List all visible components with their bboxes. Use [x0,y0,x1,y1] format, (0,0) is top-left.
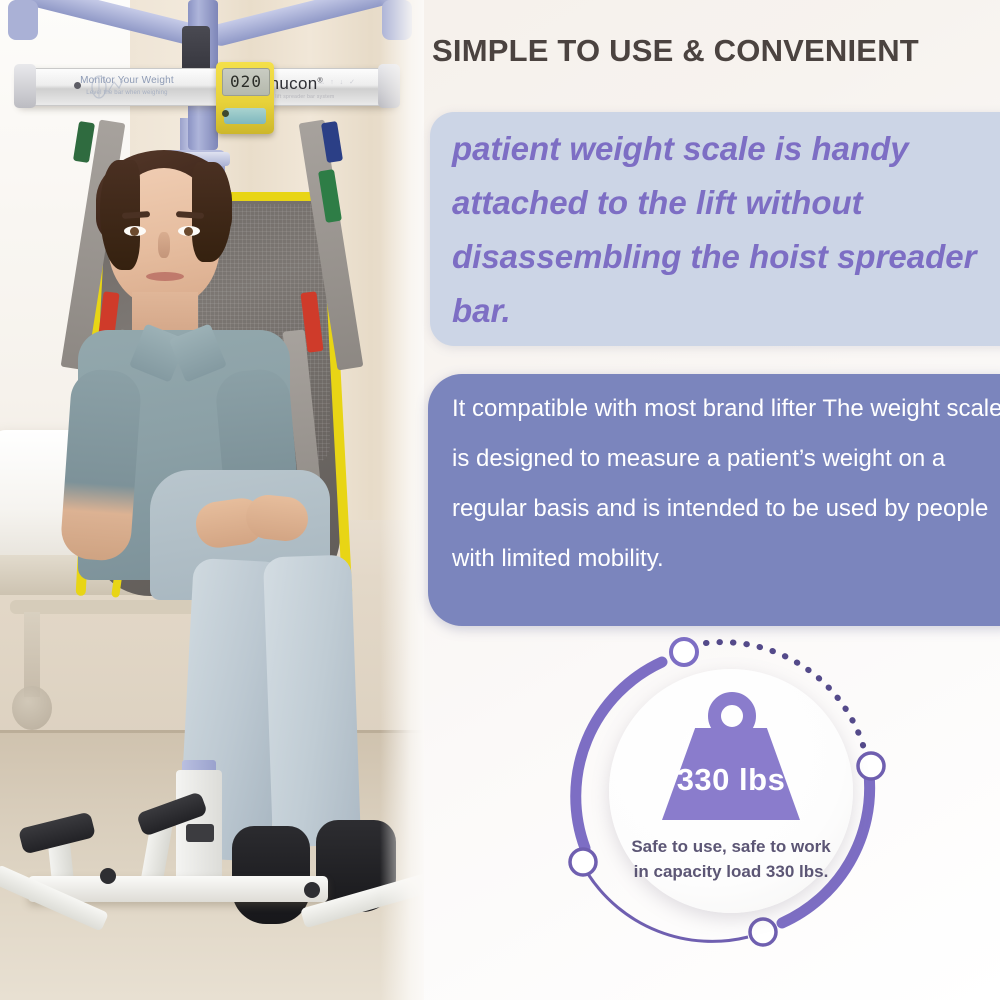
scale-lcd-display: 020 [222,68,270,96]
spreader-bar-cap-left [14,64,36,108]
highlight-panel-text: patient weight scale is handy attached t… [452,122,1000,338]
spreader-bar-label-sub: Level the bar when weighing [62,88,192,99]
capacity-caption: Safe to use, safe to work in capacity lo… [624,834,838,884]
description-panel-text: It compatible with most brand lifter The… [452,384,1000,584]
patient-sock-left [232,826,310,924]
product-photo: Monitor Your Weight Level the bar when w… [0,0,424,1000]
lift-base-knob [304,882,320,898]
lift-control-screen [186,824,214,842]
spreader-bar-label-main: Monitor Your Weight [80,75,174,86]
photo-edge-fade [380,0,424,1000]
patient-leg-right [263,555,361,848]
scale-led-icon [222,110,229,117]
weight-icon: 330 lbs [662,692,800,820]
lift-yoke-end-left [8,0,38,40]
capacity-badge: 330 lbs Safe to use, safe to work in cap… [566,626,896,956]
scale-button-panel[interactable] [224,108,266,124]
page-title: SIMPLE TO USE & CONVENIENT [432,33,992,69]
patient-arm-left [59,368,142,562]
scale-reading: 020 [223,69,269,95]
spreader-bar-label: Monitor Your Weight Level the bar when w… [62,72,192,103]
patient-eye-right [178,226,200,236]
bed-leg [24,612,40,697]
patient-nose [158,232,170,258]
patient-eye-left [124,226,146,236]
lift-base-knob [100,868,116,884]
spreader-bar-icon-row: ⚠ ↑ ↓ ✓ [318,78,357,86]
patient-mouth [146,272,184,281]
bed-caster [12,686,52,730]
capacity-value: 330 lbs [662,762,800,798]
product-marketing-image: Monitor Your Weight Level the bar when w… [0,0,1000,1000]
